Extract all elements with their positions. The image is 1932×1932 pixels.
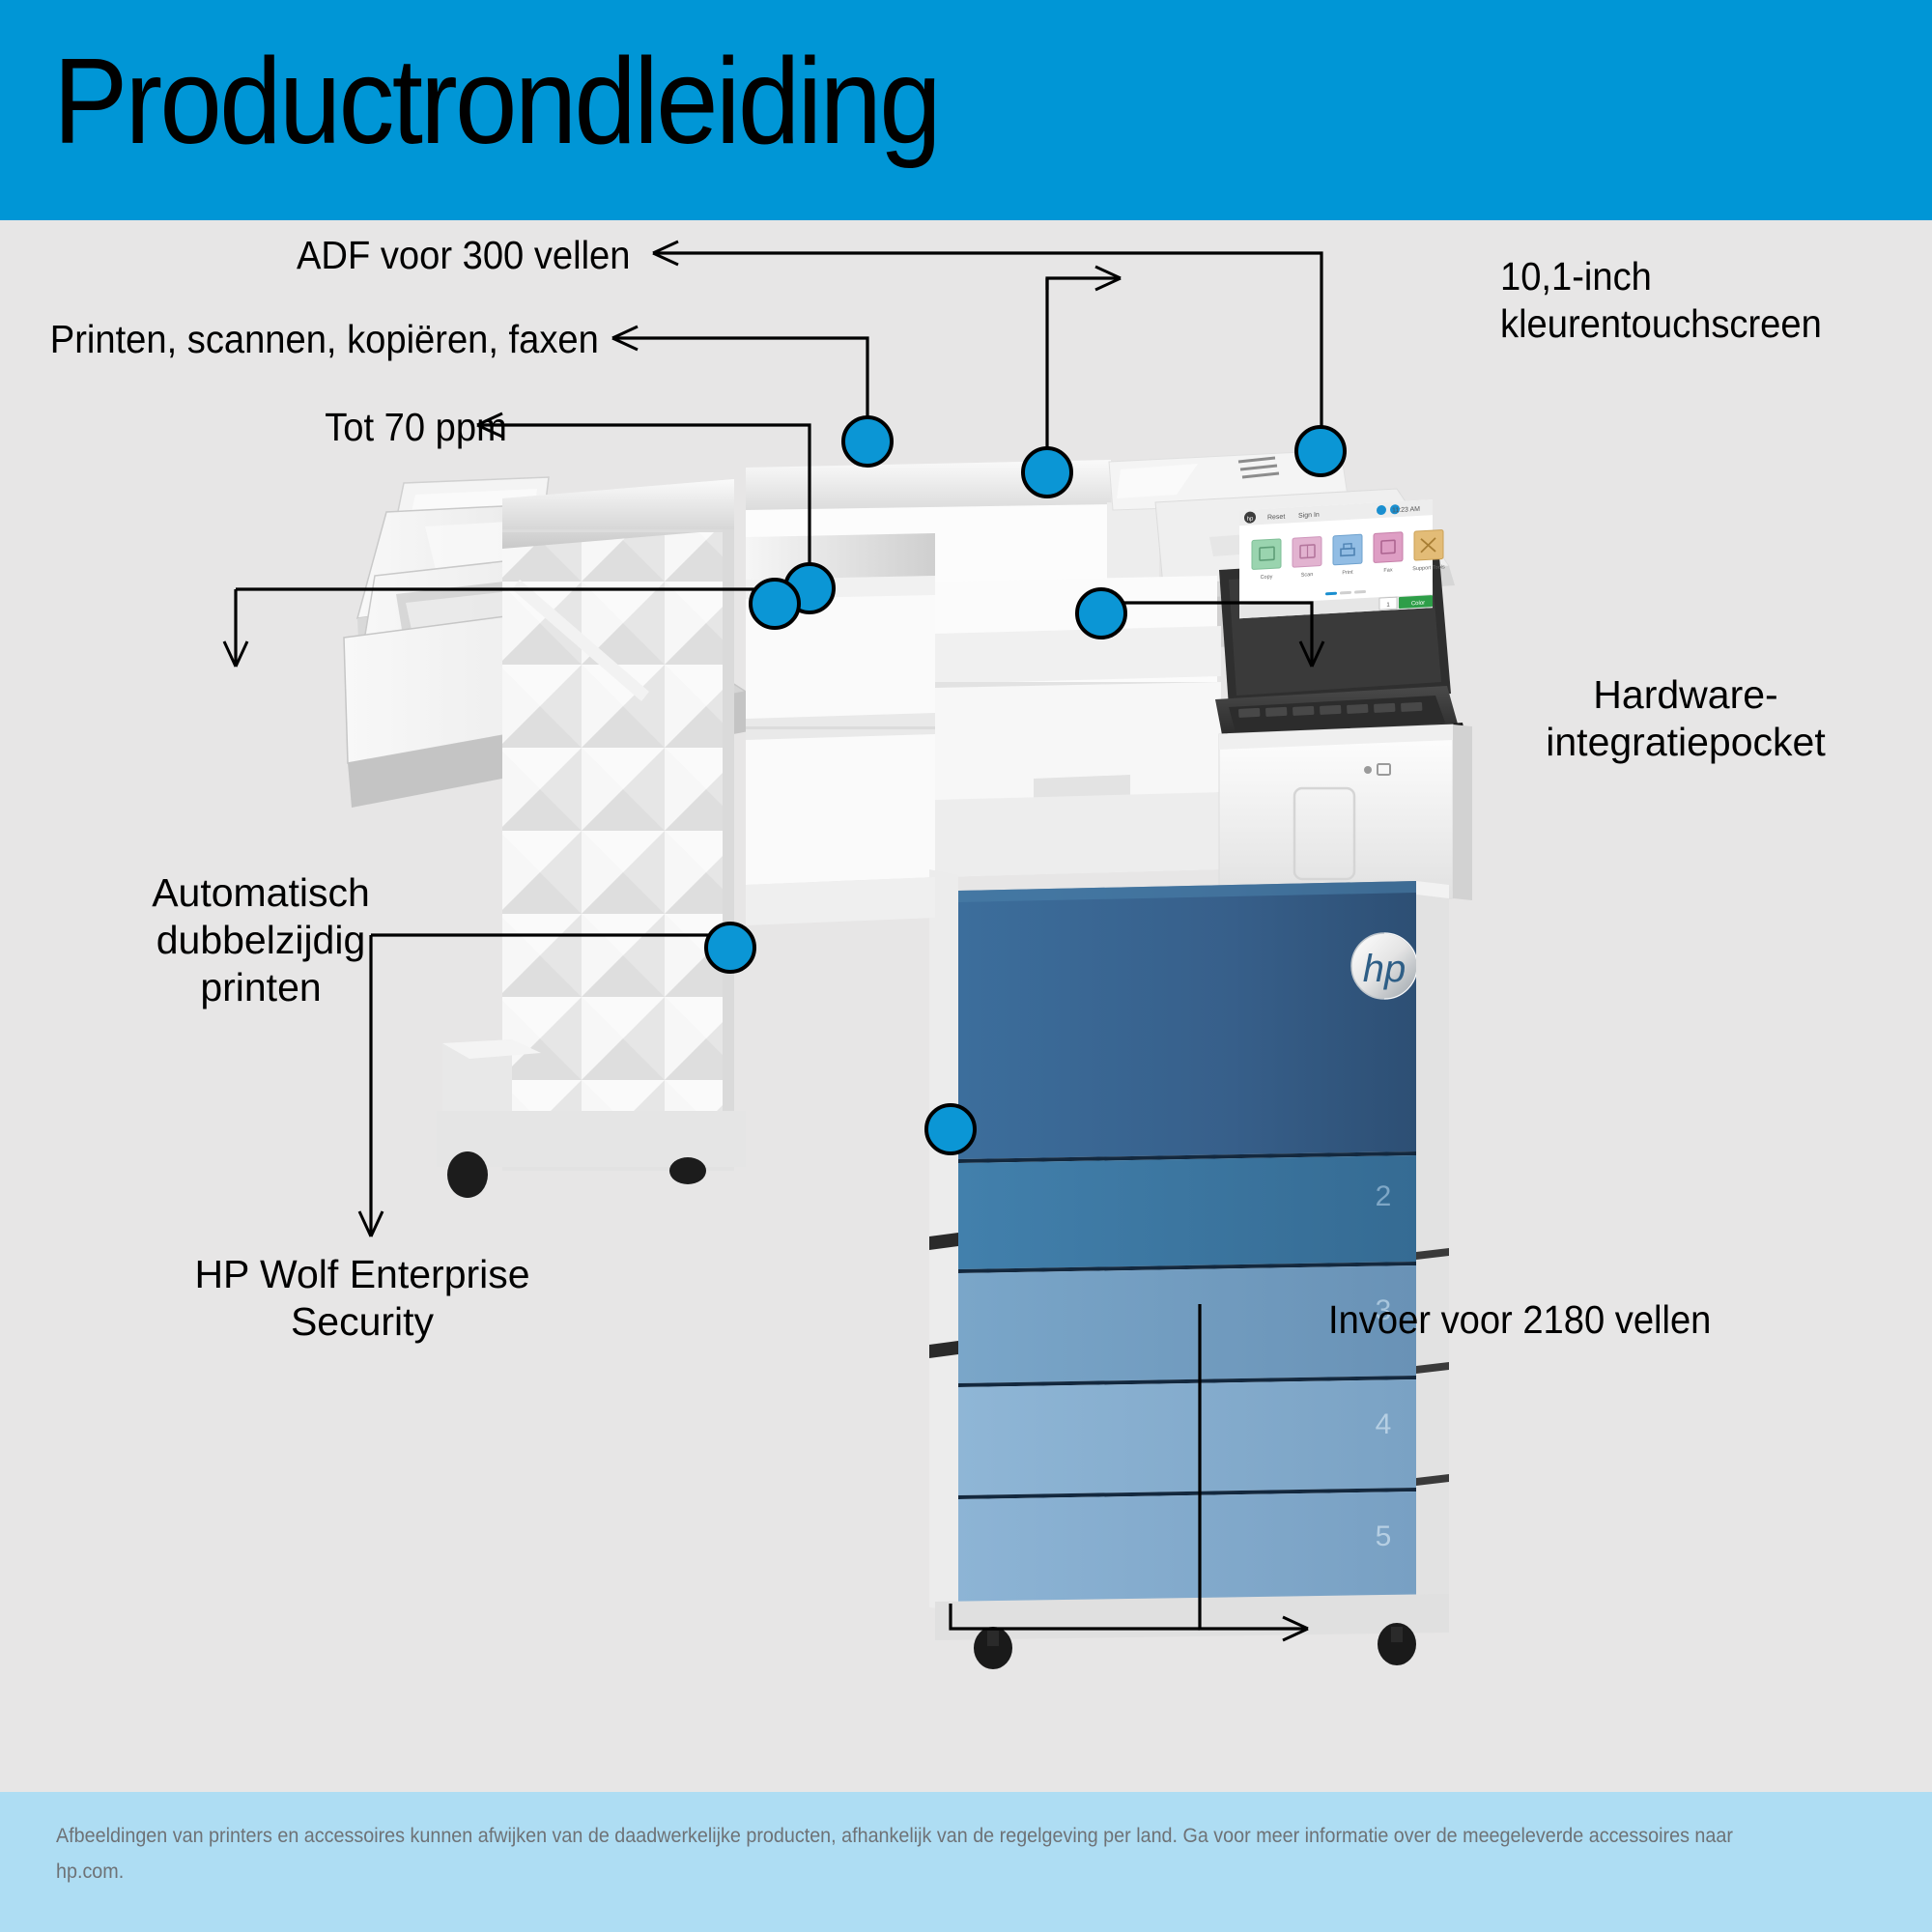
callout-dot-touchscreen[interactable]: [1021, 446, 1073, 498]
connector-input: [1200, 1304, 1308, 1629]
callout-label-input: Invoer voor 2180 vellen: [1328, 1296, 1867, 1344]
callout-dot-multifunction[interactable]: [841, 415, 894, 468]
callout-label-multifunction: Printen, scannen, kopiëren, faxen: [50, 316, 599, 363]
callout-dot-input[interactable]: [924, 1103, 977, 1155]
callout-label-touchscreen: 10,1-inch kleurentouchscreen: [1500, 253, 1878, 348]
callout-label-pocket: Hardware- integratiepocket: [1459, 671, 1913, 766]
footer-disclaimer: Afbeeldingen van printers en accessoires…: [56, 1818, 1763, 1889]
product-overview-infographic: Productrondleiding: [0, 0, 1932, 1932]
connector-adf: [653, 253, 1321, 435]
callout-label-security: HP Wolf Enterprise Security: [135, 1251, 589, 1346]
page-footer: Afbeeldingen van printers en accessoires…: [0, 1792, 1932, 1932]
connector-multifunction: [612, 338, 867, 425]
callout-dot-adf[interactable]: [1294, 425, 1347, 477]
connector-ppm: [477, 425, 810, 570]
callout-label-duplex: Automatisch dubbelzijdig printen: [97, 869, 425, 1011]
connector-input-stub: [951, 1604, 1200, 1629]
callout-dot-security[interactable]: [704, 922, 756, 974]
connector-pocket: [1101, 603, 1312, 667]
callout-dot-duplex[interactable]: [749, 578, 801, 630]
callout-label-adf: ADF voor 300 vellen: [297, 232, 630, 279]
callout-label-ppm: Tot 70 ppm: [325, 404, 507, 451]
callout-dot-pocket[interactable]: [1075, 587, 1127, 639]
